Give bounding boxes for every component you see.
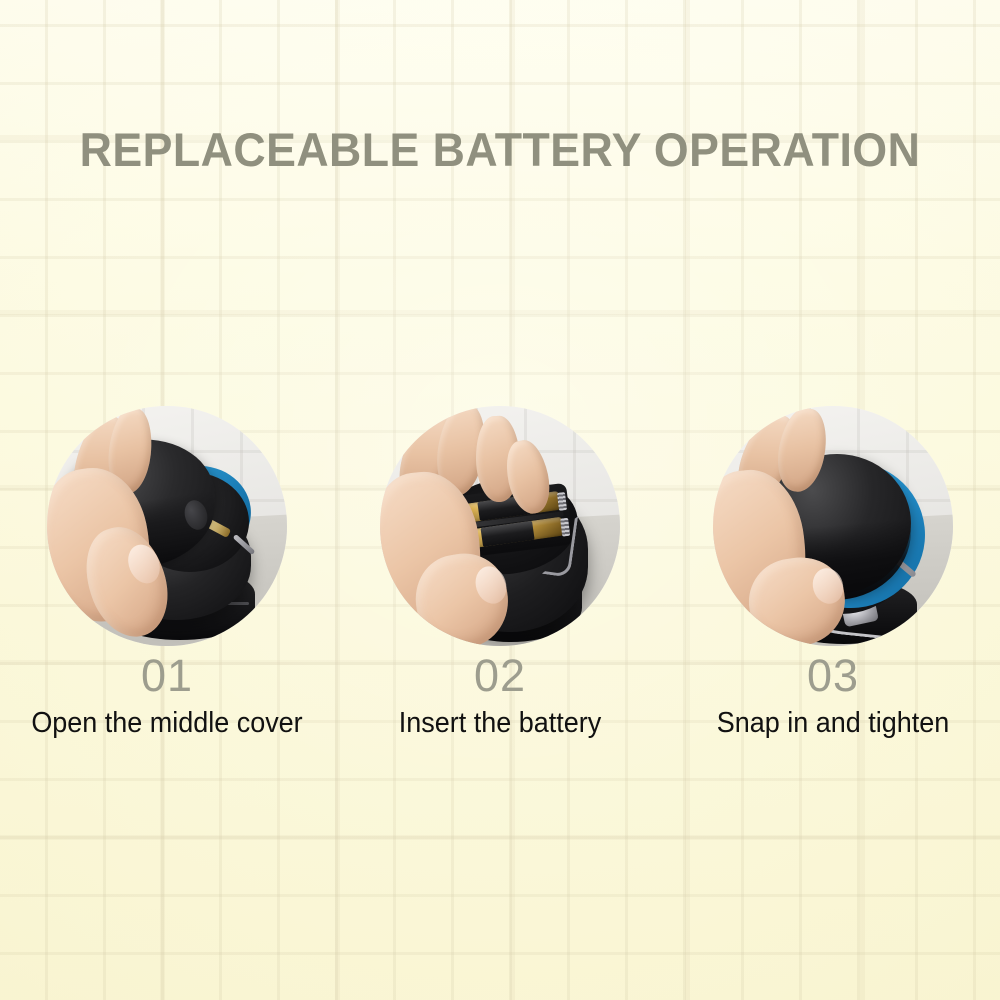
step-photo-1 (47, 406, 287, 646)
step-item-1: 01 Open the middle cover (0, 400, 334, 860)
step-photo-2 (380, 406, 620, 646)
step-caption-3: Snap in and tighten (678, 705, 989, 741)
steps-row: 01 Open the middle cover (0, 0, 1000, 1000)
battery-spring (557, 492, 567, 511)
step-item-3: 03 Snap in and tighten (666, 400, 1000, 860)
poster-page: REPLACEABLE BATTERY OPERATION (0, 0, 1000, 1000)
step-caption-1: Open the middle cover (12, 705, 323, 741)
step-caption-2: Insert the battery (345, 705, 656, 741)
step-number-2: 02 (333, 652, 667, 700)
step-item-2: 02 Insert the battery (333, 400, 667, 860)
step-number-3: 03 (666, 652, 1000, 700)
step-photo-3 (713, 406, 953, 646)
step-number-1: 01 (0, 652, 334, 700)
